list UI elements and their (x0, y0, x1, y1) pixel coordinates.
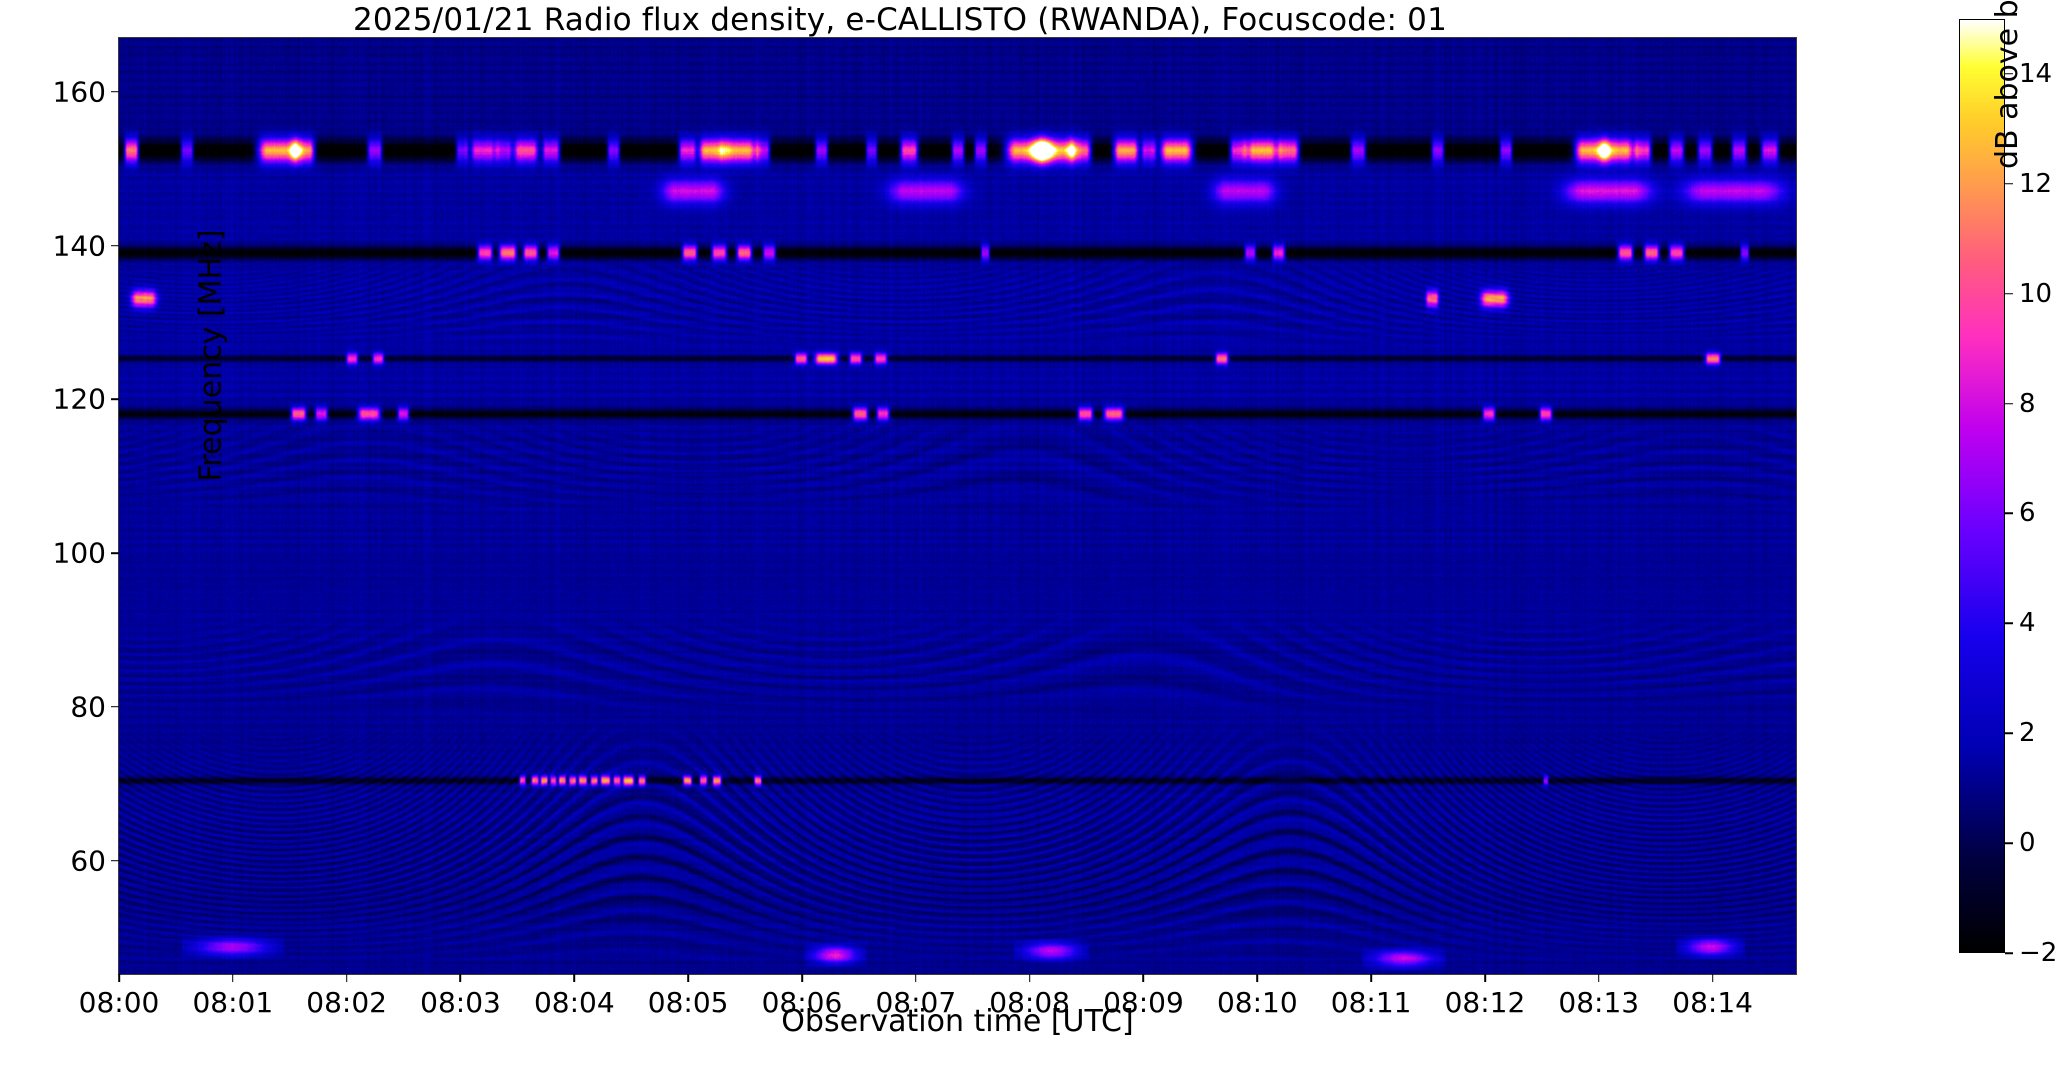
y-tick-label: 100 (53, 537, 119, 570)
colorbar-tick-label: 10 (2005, 279, 2052, 309)
colorbar-tick-label: 2 (2005, 718, 2036, 748)
y-tick-label: 120 (53, 383, 119, 416)
colorbar-label: dB above background (1990, 0, 2025, 240)
spectrogram-image (119, 38, 1796, 974)
y-tick-label: 160 (53, 75, 119, 108)
colorbar-tick-label: 8 (2005, 389, 2036, 419)
colorbar-tick-label: 6 (2005, 498, 2036, 528)
y-tick-label: 60 (70, 844, 119, 877)
colorbar-tick-label: 0 (2005, 828, 2036, 858)
spectrogram-axes: Frequency [MHz] 1601401201008060 08:0008… (118, 37, 1797, 975)
x-axis-label: Observation time [UTC] (118, 1004, 1797, 1039)
y-tick-label: 140 (53, 229, 119, 262)
colorbar-tick-label: −2 (2005, 938, 2057, 968)
figure-title: 2025/01/21 Radio flux density, e-CALLIST… (0, 2, 1800, 38)
figure-canvas-root: 2025/01/21 Radio flux density, e-CALLIST… (0, 0, 2066, 1067)
y-tick-label: 80 (70, 690, 119, 723)
colorbar-tick-label: 4 (2005, 608, 2036, 638)
y-axis-label: Frequency [MHz] (194, 186, 229, 526)
